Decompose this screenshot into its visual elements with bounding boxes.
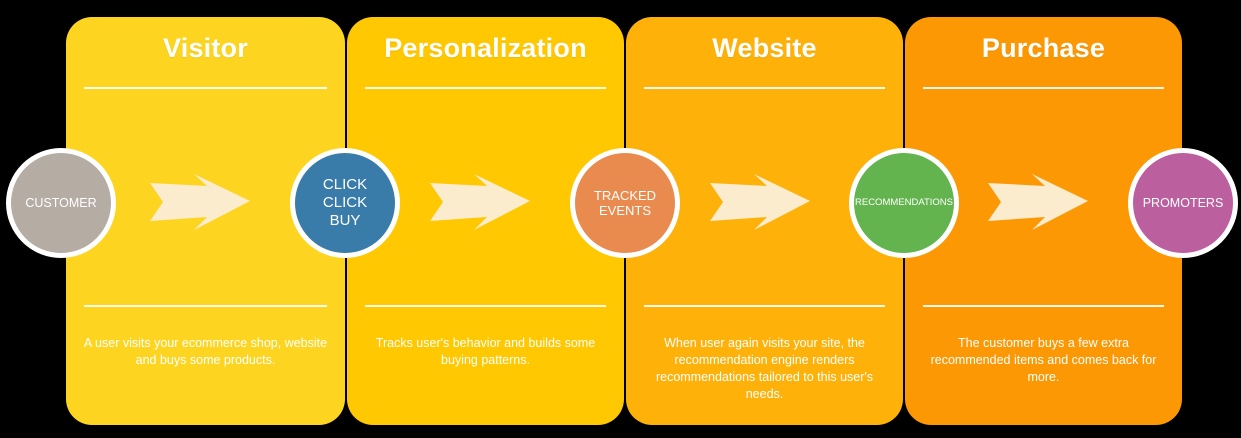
- node-label: TRACKED EVENTS: [594, 188, 656, 219]
- panel-description: When user again visits your site, the re…: [642, 335, 887, 403]
- infographic-canvas: Visitor A user visits your ecommerce sho…: [0, 0, 1241, 438]
- node-label: RECOMMENDATIONS: [855, 197, 953, 208]
- node-label: CLICK CLICK BUY: [323, 176, 367, 229]
- panel-top-divider: [644, 87, 885, 89]
- node-click-click-buy[interactable]: CLICK CLICK BUY: [290, 148, 400, 258]
- panel-title: Visitor: [66, 33, 345, 64]
- panel-bottom-divider: [644, 305, 885, 307]
- flow-arrow-icon: [710, 174, 810, 230]
- node-customer[interactable]: CUSTOMER: [6, 148, 116, 258]
- panel-top-divider: [365, 87, 606, 89]
- panel-description: Tracks user's behavior and builds some b…: [363, 335, 608, 369]
- panel-title: Purchase: [905, 33, 1182, 64]
- panel-bottom-divider: [84, 305, 327, 307]
- node-tracked-events[interactable]: TRACKED EVENTS: [570, 148, 680, 258]
- panel-top-divider: [923, 87, 1164, 89]
- node-label: CUSTOMER: [25, 196, 96, 211]
- panel-bottom-divider: [365, 305, 606, 307]
- panel-title: Personalization: [347, 33, 624, 64]
- flow-arrow-icon: [430, 174, 530, 230]
- flow-arrow-icon: [150, 174, 250, 230]
- panel-description: The customer buys a few extra recommende…: [921, 335, 1166, 386]
- panel-bottom-divider: [923, 305, 1164, 307]
- panel-top-divider: [84, 87, 327, 89]
- flow-arrow-icon: [988, 174, 1088, 230]
- panel-description: A user visits your ecommerce shop, websi…: [82, 335, 329, 369]
- panel-title: Website: [626, 33, 903, 64]
- node-recommendations[interactable]: RECOMMENDATIONS: [849, 148, 959, 258]
- node-label: PROMOTERS: [1143, 196, 1224, 211]
- node-promoters[interactable]: PROMOTERS: [1128, 148, 1238, 258]
